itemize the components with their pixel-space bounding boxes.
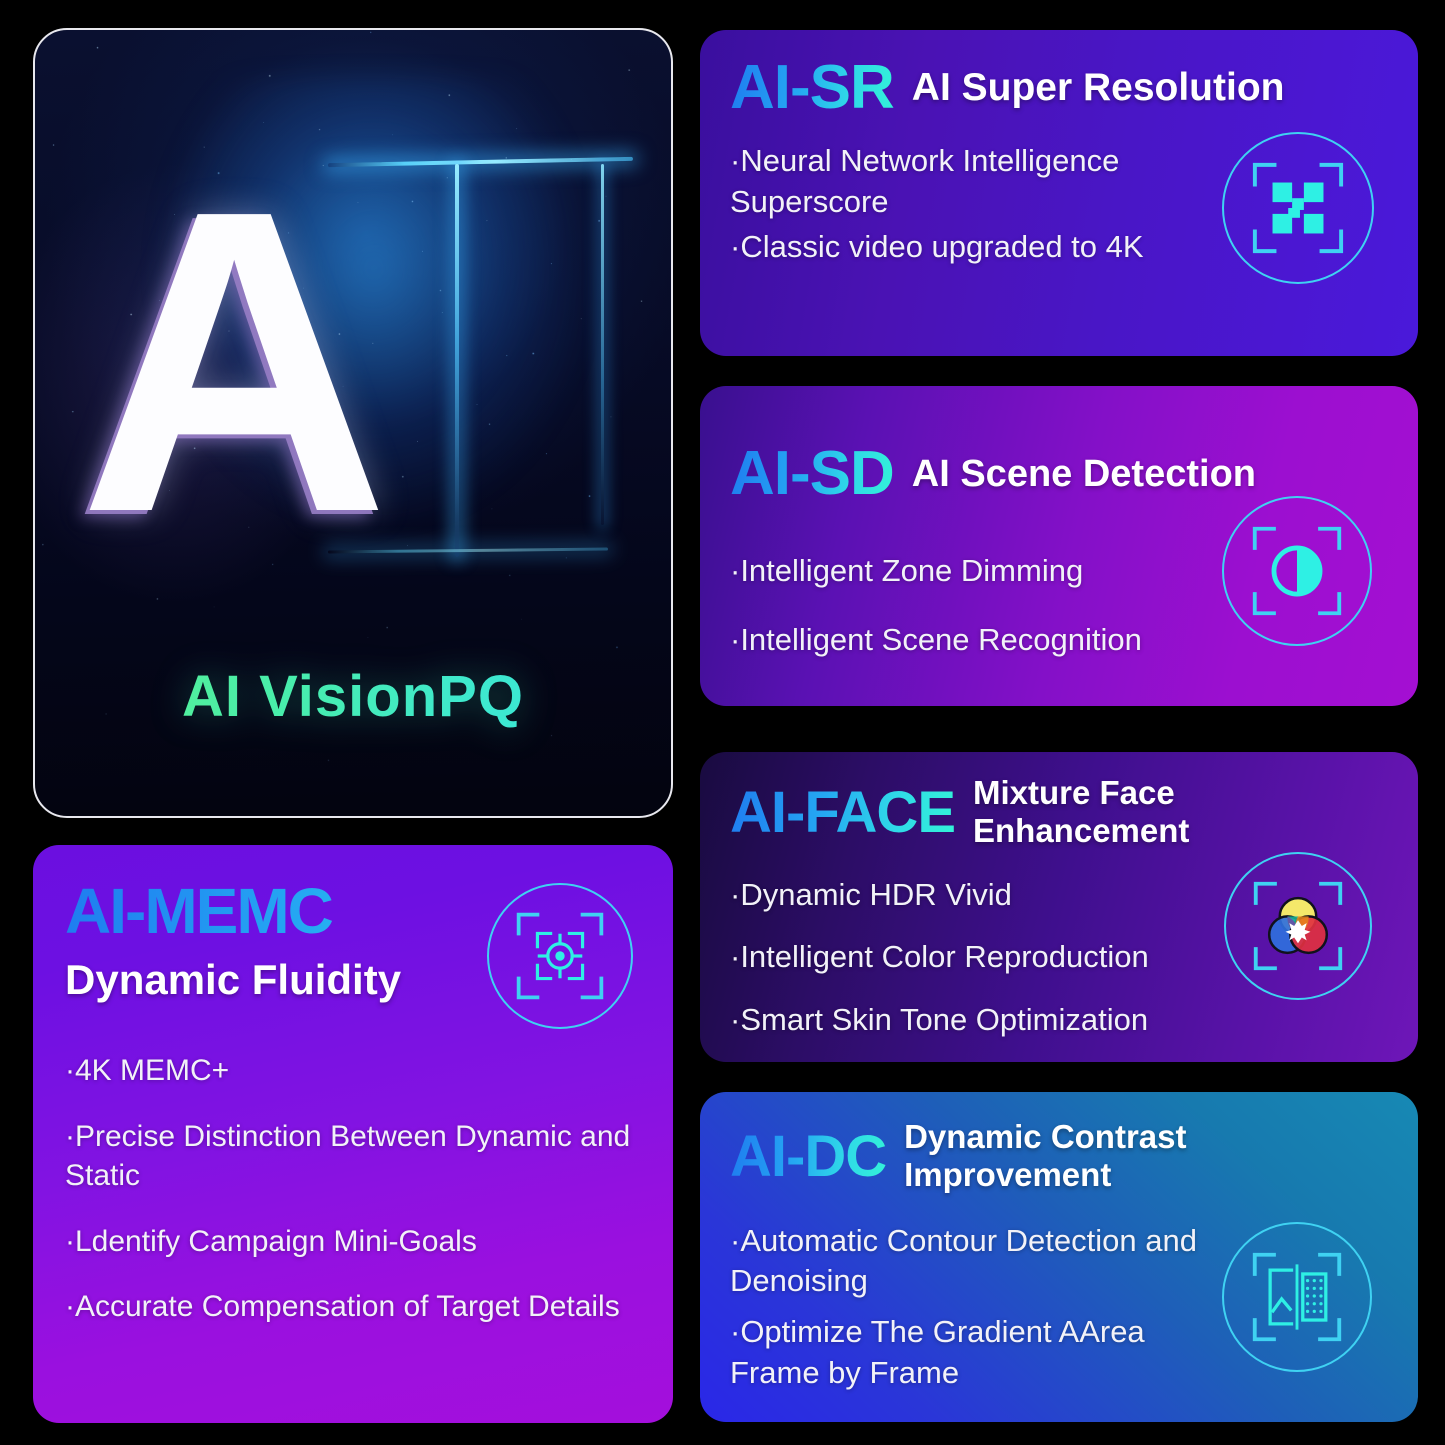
tag-ai-sd: AI-SD [730,442,894,505]
bullet-list-ai-memc: ·4K MEMC+ ·Precise Distinction Between D… [65,1051,641,1327]
motion-target-icon [513,909,607,1003]
tag-ai-face: AI-FACE [730,783,955,842]
hero-title: AI VisionPQ [35,663,671,730]
card-header-ai-dc: AI-DC Dynamic Contrast Improvement [730,1118,1388,1195]
bullet-item: ·Accurate Compensation of Target Details [65,1287,641,1327]
image-grid-contrast-icon [1249,1249,1345,1345]
subtitle-ai-sd: AI Scene Detection [912,452,1256,496]
feature-card-ai-memc[interactable]: AI-MEMC Dynamic Fluidity ·4K MEMC+ ·Prec… [33,845,673,1423]
icon-circle-ai-memc [487,883,633,1029]
icon-circle-ai-face [1224,852,1372,1000]
subtitle-ai-face: Mixture Face Enhancement [973,774,1223,851]
subtitle-ai-sr: AI Super Resolution [912,65,1285,110]
hero-panel: A AI VisionPQ [33,28,673,818]
resolution-pixel-icon [1249,159,1347,257]
tag-ai-dc: AI-DC [730,1127,886,1186]
tag-ai-sr: AI-SR [730,56,894,119]
feature-card-ai-sd[interactable]: AI-SD AI Scene Detection ·Intelligent Zo… [700,386,1418,706]
icon-circle-ai-sr [1222,132,1374,284]
card-header-ai-face: AI-FACE Mixture Face Enhancement [730,774,1388,851]
rgb-color-wheel-icon [1250,878,1346,974]
infographic-board: A AI VisionPQ AI-SR AI Super Resolution … [0,0,1445,1445]
bullet-item: ·Precise Distinction Between Dynamic and… [65,1117,641,1196]
icon-circle-ai-sd [1222,496,1372,646]
icon-circle-ai-dc [1222,1222,1372,1372]
bullet-item: ·4K MEMC+ [65,1051,641,1091]
subtitle-ai-dc: Dynamic Contrast Improvement [904,1118,1194,1195]
letter-a-glyph: A [79,190,329,535]
feature-card-ai-dc[interactable]: AI-DC Dynamic Contrast Improvement ·Auto… [700,1092,1418,1422]
bullet-item: ·Smart Skin Tone Optimization [730,1000,1388,1041]
letter-i-stem [455,164,459,557]
feature-card-ai-face[interactable]: AI-FACE Mixture Face Enhancement ·Dynami… [700,752,1418,1062]
feature-card-ai-sr[interactable]: AI-SR AI Super Resolution ·Neural Networ… [700,30,1418,356]
letter-i-stem-secondary [601,164,604,526]
contrast-circle-icon [1249,523,1345,619]
bullet-item: ·Automatic Contour Detection and Denoisi… [730,1221,1200,1303]
card-header-ai-sr: AI-SR AI Super Resolution [730,56,1388,119]
bullet-item: ·Ldentify Campaign Mini-Goals [65,1222,641,1262]
bullet-item: ·Neural Network Intelligence Superscore [730,141,1250,223]
bullet-item: ·Optimize The Gradient AArea Frame by Fr… [730,1312,1200,1394]
